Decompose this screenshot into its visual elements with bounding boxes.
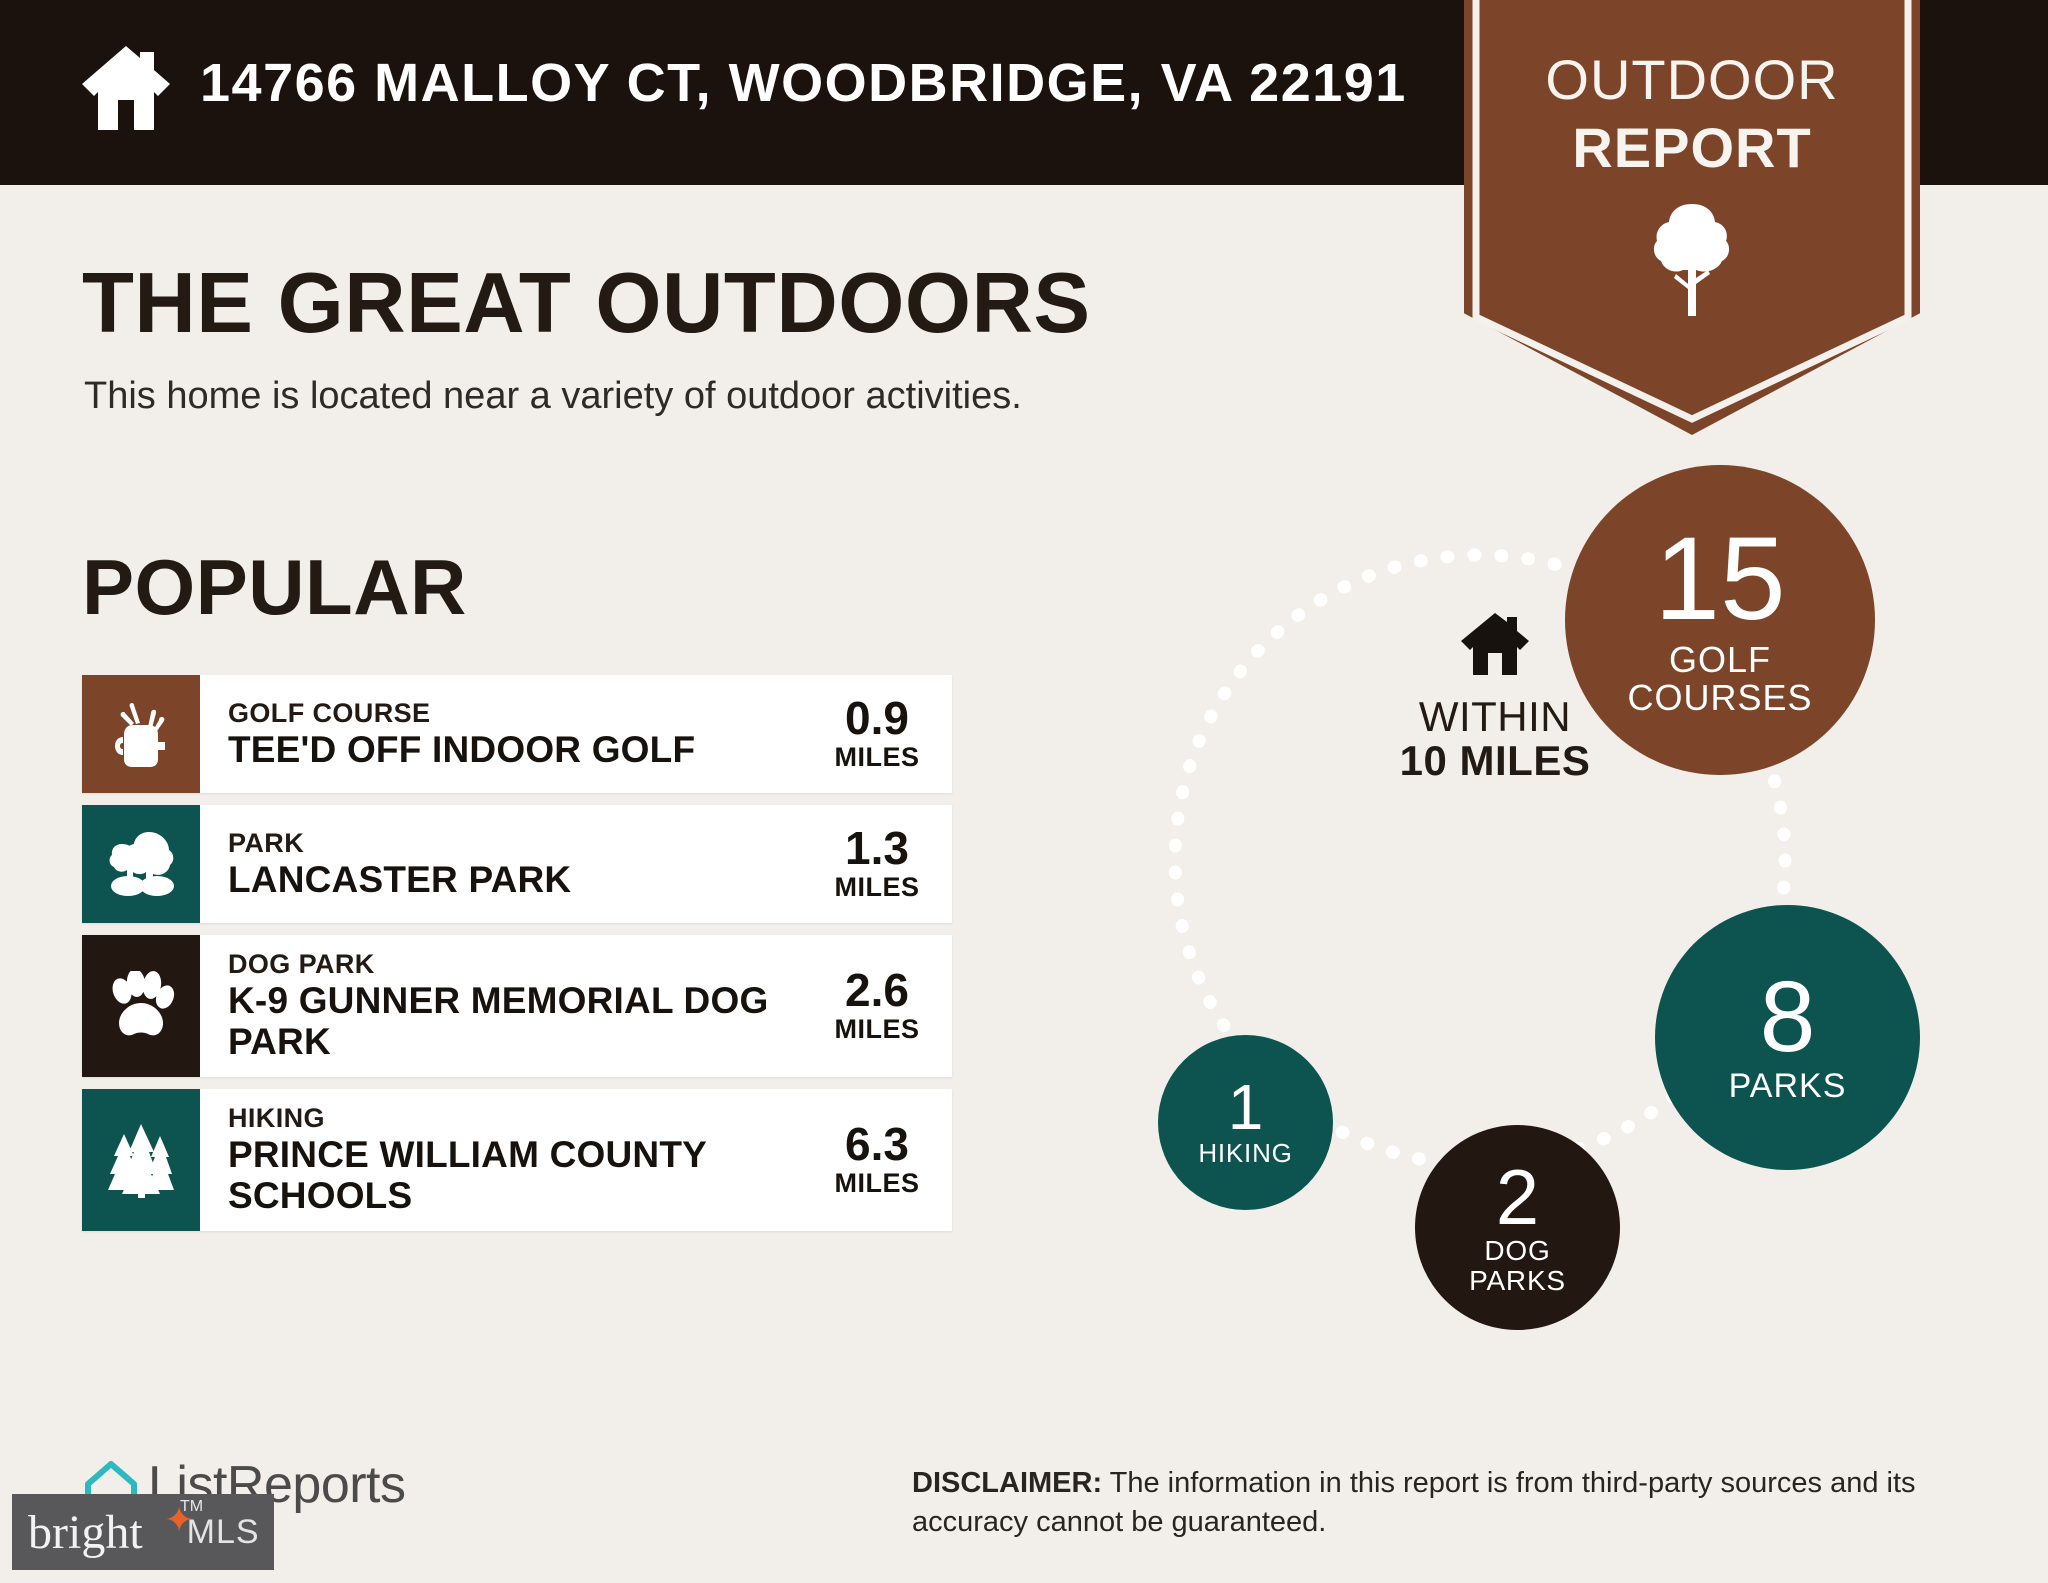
- popular-list: GOLF COURSE TEE'D OFF INDOOR GOLF 0.9 MI…: [82, 675, 952, 1243]
- list-item-category: PARK: [228, 828, 808, 859]
- outdoor-report-infographic: 14766 MALLOY CT, WOODBRIDGE, VA 22191 OU…: [0, 0, 2048, 1583]
- stat-label-line1: GOLF: [1669, 641, 1771, 679]
- stat-value: 1: [1228, 1077, 1264, 1138]
- list-item-text: HIKING PRINCE WILLIAM COUNTY SCHOOLS: [200, 1089, 818, 1231]
- distance-unit: MILES: [834, 741, 919, 773]
- stat-value: 8: [1760, 970, 1816, 1065]
- list-item-text: DOG PARK K-9 GUNNER MEMORIAL DOG PARK: [200, 935, 818, 1077]
- list-item-text: GOLF COURSE TEE'D OFF INDOOR GOLF: [200, 675, 818, 793]
- stat-circle-dog-parks[interactable]: 2 DOG PARKS: [1415, 1125, 1620, 1330]
- list-item[interactable]: GOLF COURSE TEE'D OFF INDOOR GOLF 0.9 MI…: [82, 675, 952, 793]
- list-item-distance: 2.6 MILES: [818, 935, 952, 1077]
- list-item-category: GOLF COURSE: [228, 698, 808, 729]
- park-trees-icon-tile: [82, 805, 200, 923]
- disclaimer: DISCLAIMER: The information in this repo…: [912, 1464, 1982, 1542]
- bright-wordmark: bright: [28, 1505, 143, 1560]
- stat-label-line2: COURSES: [1627, 679, 1812, 717]
- amenities-ring-diagram: 15 GOLF COURSES 8 PARKS 2 DOG PARKS 1 HI…: [1090, 460, 1990, 1380]
- disclaimer-label: DISCLAIMER:: [912, 1467, 1102, 1499]
- paw-print-icon-tile: [82, 935, 200, 1077]
- page-subtitle: This home is located near a variety of o…: [84, 375, 1022, 418]
- stat-value: 15: [1654, 523, 1785, 635]
- list-item-distance: 0.9 MILES: [818, 675, 952, 793]
- stat-label-line1: PARKS: [1729, 1069, 1847, 1105]
- home-icon: [1458, 610, 1532, 678]
- list-item-name: TEE'D OFF INDOOR GOLF: [228, 729, 808, 770]
- tree-icon: [1650, 200, 1734, 320]
- property-address: 14766 MALLOY CT, WOODBRIDGE, VA 22191: [200, 52, 1407, 114]
- list-item-category: DOG PARK: [228, 949, 808, 980]
- bright-mls-watermark: bright MLS: [12, 1494, 274, 1570]
- distance-value: 0.9: [845, 695, 909, 741]
- badge-title-line1: OUTDOOR: [1464, 52, 1920, 108]
- stat-label-line1: DOG: [1484, 1236, 1550, 1265]
- popular-section-heading: POPULAR: [82, 542, 467, 633]
- pine-trees-icon: [106, 1122, 176, 1198]
- list-item[interactable]: HIKING PRINCE WILLIAM COUNTY SCHOOLS 6.3…: [82, 1089, 952, 1231]
- home-icon: [78, 42, 174, 134]
- golf-bag-icon-tile: [82, 675, 200, 793]
- golf-bag-icon: [109, 699, 173, 769]
- ring-center-label: WITHIN 10 MILES: [1360, 610, 1630, 783]
- list-item-category: HIKING: [228, 1103, 808, 1134]
- pine-trees-icon-tile: [82, 1089, 200, 1231]
- page-title: THE GREAT OUTDOORS: [82, 255, 1091, 353]
- list-item[interactable]: DOG PARK K-9 GUNNER MEMORIAL DOG PARK 2.…: [82, 935, 952, 1077]
- stat-circle-parks[interactable]: 8 PARKS: [1655, 905, 1920, 1170]
- list-item-distance: 1.3 MILES: [818, 805, 952, 923]
- list-item-name: PRINCE WILLIAM COUNTY SCHOOLS: [228, 1134, 808, 1217]
- distance-value: 1.3: [845, 825, 909, 871]
- park-trees-icon: [105, 830, 177, 898]
- distance-unit: MILES: [834, 1167, 919, 1199]
- badge-title-line2: REPORT: [1464, 120, 1920, 176]
- list-item-name: K-9 GUNNER MEMORIAL DOG PARK: [228, 980, 808, 1063]
- distance-unit: MILES: [834, 1013, 919, 1045]
- trademark-symbol: TM: [180, 1498, 203, 1516]
- within-label: WITHIN: [1360, 695, 1630, 739]
- stat-label-line1: HIKING: [1198, 1140, 1292, 1167]
- distance-unit: MILES: [834, 871, 919, 903]
- miles-label: 10 MILES: [1360, 739, 1630, 783]
- stat-label-line2: PARKS: [1469, 1266, 1566, 1295]
- paw-print-icon: [107, 971, 175, 1041]
- list-item[interactable]: PARK LANCASTER PARK 1.3 MILES: [82, 805, 952, 923]
- distance-value: 6.3: [845, 1121, 909, 1167]
- stat-circle-hiking[interactable]: 1 HIKING: [1158, 1035, 1333, 1210]
- stat-value: 2: [1496, 1160, 1539, 1234]
- list-item-name: LANCASTER PARK: [228, 859, 808, 900]
- distance-value: 2.6: [845, 967, 909, 1013]
- mls-wordmark: MLS: [187, 1513, 260, 1552]
- list-item-text: PARK LANCASTER PARK: [200, 805, 818, 923]
- list-item-distance: 6.3 MILES: [818, 1089, 952, 1231]
